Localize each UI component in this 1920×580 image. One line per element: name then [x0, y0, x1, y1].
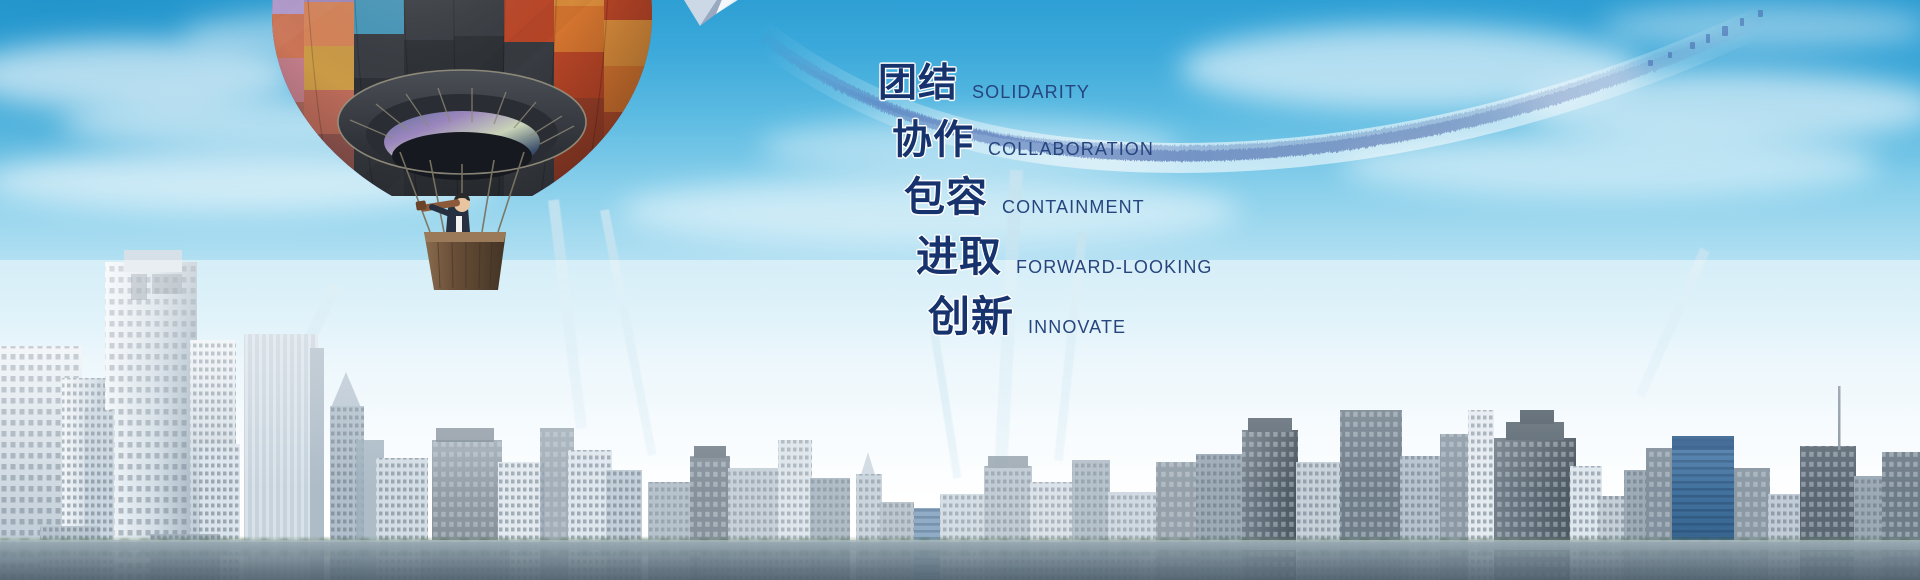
foreground-bridge	[0, 542, 1920, 580]
slogan-en: CONTAINMENT	[1002, 197, 1145, 218]
culture-banner: 团结 SOLIDARITY 协作 COLLABORATION 包容 CONTAI…	[0, 0, 1920, 580]
slogan-line: 包容 CONTAINMENT	[904, 176, 1500, 219]
slogan-cn: 包容	[904, 176, 988, 219]
slogan-en: FORWARD-LOOKING	[1016, 257, 1213, 278]
slogan-en: INNOVATE	[1028, 317, 1126, 338]
slogan-line: 团结 SOLIDARITY	[878, 64, 1500, 105]
paper-plane-icon	[660, 0, 780, 44]
slogan-cn: 团结	[878, 64, 958, 105]
hot-air-balloon	[272, 0, 652, 324]
slogan-line: 进取 FORWARD-LOOKING	[916, 235, 1500, 279]
slogan-block: 团结 SOLIDARITY 协作 COLLABORATION 包容 CONTAI…	[860, 64, 1500, 347]
slogan-cn: 创新	[928, 295, 1014, 339]
slogan-line: 创新 INNOVATE	[928, 295, 1500, 339]
slogan-cn: 进取	[916, 235, 1002, 279]
slogan-en: COLLABORATION	[988, 139, 1154, 160]
slogan-cn: 协作	[892, 119, 974, 161]
slogan-line: 协作 COLLABORATION	[892, 119, 1500, 161]
slogan-en: SOLIDARITY	[972, 82, 1090, 103]
